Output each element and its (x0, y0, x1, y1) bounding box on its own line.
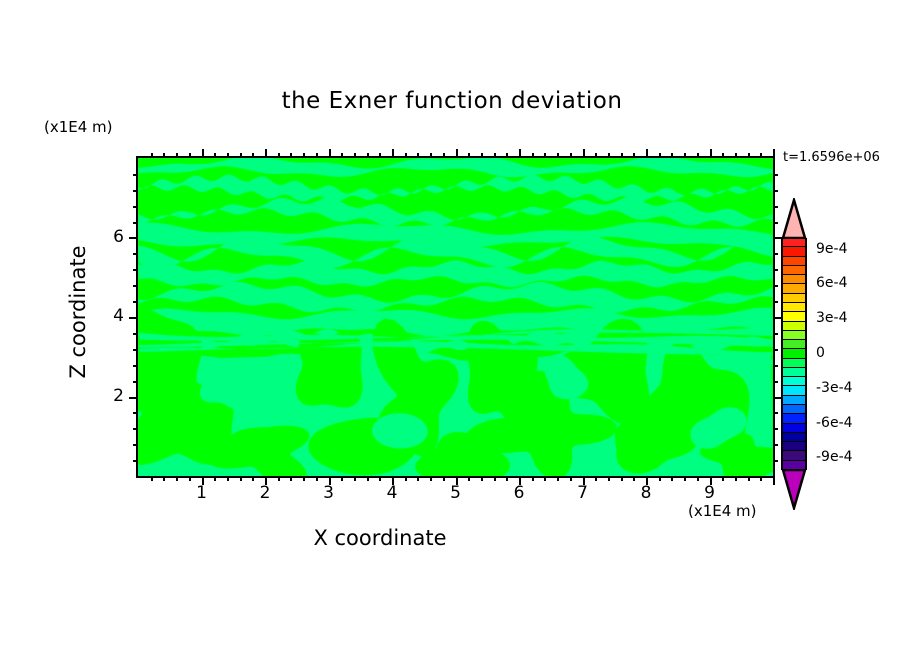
colorbar-segment (781, 386, 807, 395)
axis-tick-y (773, 444, 778, 446)
axis-tick-y (773, 428, 778, 430)
x-tick-label: 5 (436, 483, 476, 503)
axis-tick-x (367, 476, 369, 481)
axis-tick-x (341, 476, 343, 481)
axis-tick-x (633, 476, 635, 481)
axis-tick-x (506, 476, 508, 481)
axis-tick-x (163, 153, 165, 158)
x-tick-label: 9 (690, 483, 730, 503)
colorbar-segment (781, 349, 807, 358)
colorbar-segment (781, 368, 807, 377)
colorbar-segment (781, 442, 807, 451)
axis-tick-y (133, 253, 138, 255)
axis-tick-x (240, 476, 242, 481)
axis-tick-x (570, 476, 572, 481)
y-axis-units-label: (x1E4 m) (44, 118, 113, 136)
axis-tick-x (621, 476, 623, 481)
axis-tick-x (773, 476, 775, 485)
axis-tick-y (133, 301, 138, 303)
y-tick-label: 6 (88, 227, 124, 247)
colorbar-segment (781, 322, 807, 331)
axis-tick-x (278, 153, 280, 158)
axis-tick-y (133, 460, 138, 462)
axis-tick-x (151, 476, 153, 481)
colorbar-over-arrow (781, 198, 807, 238)
x-tick-label: 3 (309, 483, 349, 503)
colorbar-tick-label: -3e-4 (816, 380, 853, 396)
axis-tick-x (646, 149, 648, 158)
x-axis-units-label: (x1E4 m) (688, 502, 757, 520)
axis-tick-x (214, 476, 216, 481)
axis-tick-y (773, 253, 778, 255)
axis-tick-x (481, 476, 483, 481)
colorbar-segment (781, 340, 807, 349)
axis-tick-x (684, 153, 686, 158)
axis-tick-x (722, 153, 724, 158)
colorbar-segment (781, 257, 807, 266)
axis-tick-x (227, 476, 229, 481)
axis-tick-x (252, 476, 254, 481)
colorbar-segment (781, 303, 807, 312)
colorbar-tick-label: 3e-4 (816, 310, 847, 326)
axis-tick-x (405, 476, 407, 481)
axis-tick-x (430, 476, 432, 481)
axis-tick-x (316, 153, 318, 158)
colorbar-segment (781, 266, 807, 275)
axis-tick-x (354, 476, 356, 481)
axis-tick-y (133, 190, 138, 192)
colorbar-tick-label: 0 (816, 345, 825, 361)
axis-tick-x (265, 149, 267, 158)
axis-tick-x (417, 153, 419, 158)
axis-tick-y (773, 333, 778, 335)
axis-tick-x (570, 153, 572, 158)
axis-tick-x (290, 476, 292, 481)
axis-tick-x (443, 476, 445, 481)
axis-tick-y (773, 285, 778, 287)
axis-tick-y (133, 428, 138, 430)
axis-tick-y (129, 317, 138, 319)
colorbar-segment (781, 414, 807, 423)
axis-tick-y (773, 269, 778, 271)
axis-tick-x (494, 476, 496, 481)
contour-field (138, 158, 773, 476)
axis-tick-y (773, 349, 778, 351)
axis-tick-x (151, 153, 153, 158)
axis-tick-x (379, 153, 381, 158)
axis-tick-y (773, 381, 778, 383)
colorbar-segment (781, 275, 807, 284)
axis-tick-y (133, 206, 138, 208)
axis-tick-x (468, 153, 470, 158)
x-tick-label: 8 (626, 483, 666, 503)
colorbar-segment (781, 238, 807, 247)
axis-tick-x (760, 153, 762, 158)
axis-tick-x (278, 476, 280, 481)
axis-tick-x (671, 153, 673, 158)
axis-tick-x (189, 476, 191, 481)
axis-tick-x (671, 476, 673, 481)
axis-tick-y (133, 381, 138, 383)
page-title: the Exner function deviation (0, 88, 904, 114)
colorbar-tick-label: -9e-4 (816, 449, 853, 465)
y-tick-label: 4 (88, 306, 124, 326)
axis-tick-x (481, 153, 483, 158)
axis-tick-y (773, 460, 778, 462)
axis-tick-x (506, 153, 508, 158)
axis-tick-x (392, 149, 394, 158)
colorbar-segment (781, 294, 807, 303)
axis-tick-y (133, 333, 138, 335)
axis-tick-x (176, 153, 178, 158)
axis-tick-x (252, 153, 254, 158)
axis-tick-x (405, 153, 407, 158)
colorbar-segment (781, 433, 807, 442)
axis-tick-x (748, 476, 750, 481)
axis-tick-x (443, 153, 445, 158)
axis-tick-y (133, 365, 138, 367)
axis-tick-y (133, 174, 138, 176)
colorbar-tick-label: -6e-4 (816, 415, 853, 431)
axis-tick-x (557, 476, 559, 481)
axis-tick-x (595, 476, 597, 481)
axis-tick-x (659, 476, 661, 481)
x-tick-label: 4 (372, 483, 412, 503)
axis-tick-x (494, 153, 496, 158)
axis-tick-y (129, 237, 138, 239)
colorbar-segment (781, 312, 807, 321)
axis-tick-x (468, 476, 470, 481)
axis-tick-x (329, 149, 331, 158)
axis-tick-x (430, 153, 432, 158)
y-tick-label: 2 (88, 386, 124, 406)
axis-tick-x (697, 476, 699, 481)
x-tick-label: 7 (563, 483, 603, 503)
colorbar-segment (781, 451, 807, 460)
axis-tick-x (303, 476, 305, 481)
axis-tick-x (367, 153, 369, 158)
colorbar-tick-label: 6e-4 (816, 275, 847, 291)
axis-tick-y (773, 412, 778, 414)
axis-tick-x (163, 476, 165, 481)
colorbar-segment (781, 405, 807, 414)
axis-tick-x (735, 153, 737, 158)
axis-tick-x (697, 153, 699, 158)
x-tick-label: 6 (499, 483, 539, 503)
axis-tick-x (722, 476, 724, 481)
axis-tick-x (214, 153, 216, 158)
time-annotation: t=1.6596e+06 (783, 150, 880, 165)
axis-tick-y (133, 349, 138, 351)
axis-tick-x (595, 153, 597, 158)
axis-tick-y (133, 285, 138, 287)
x-axis-title: X coordinate (0, 526, 760, 550)
axis-tick-x (748, 153, 750, 158)
axis-tick-y (129, 397, 138, 399)
colorbar (781, 238, 807, 470)
colorbar-segment (781, 284, 807, 293)
axis-tick-x (557, 153, 559, 158)
axis-tick-x (544, 476, 546, 481)
axis-tick-y (773, 365, 778, 367)
axis-tick-x (189, 153, 191, 158)
axis-tick-x (735, 476, 737, 481)
axis-tick-x (240, 153, 242, 158)
axis-tick-y (133, 269, 138, 271)
axis-tick-x (227, 153, 229, 158)
axis-tick-y (773, 301, 778, 303)
colorbar-segment (781, 424, 807, 433)
axis-tick-x (621, 153, 623, 158)
colorbar-segment (781, 331, 807, 340)
axis-tick-y (773, 174, 778, 176)
axis-tick-x (354, 153, 356, 158)
colorbar-segment (781, 359, 807, 368)
colorbar-segment (781, 247, 807, 256)
axis-tick-x (773, 149, 775, 158)
axis-tick-x (532, 476, 534, 481)
axis-tick-x (379, 476, 381, 481)
axis-tick-x (341, 153, 343, 158)
axis-tick-x (659, 153, 661, 158)
contour-plot-area (136, 156, 775, 478)
axis-tick-y (133, 412, 138, 414)
axis-tick-x (456, 149, 458, 158)
axis-tick-x (684, 476, 686, 481)
axis-tick-x (290, 153, 292, 158)
axis-tick-x (176, 476, 178, 481)
colorbar-tick-label: 9e-4 (816, 241, 847, 257)
axis-tick-x (519, 149, 521, 158)
axis-tick-x (532, 153, 534, 158)
axis-tick-x (544, 153, 546, 158)
axis-tick-y (133, 222, 138, 224)
axis-tick-y (773, 190, 778, 192)
axis-tick-x (608, 153, 610, 158)
axis-tick-x (583, 149, 585, 158)
axis-tick-y (133, 444, 138, 446)
axis-tick-x (633, 153, 635, 158)
colorbar-segment (781, 461, 807, 470)
colorbar-segment (781, 377, 807, 386)
colorbar-under-arrow (781, 470, 807, 510)
axis-tick-x (608, 476, 610, 481)
axis-tick-y (773, 206, 778, 208)
axis-tick-x (417, 476, 419, 481)
axis-tick-x (760, 476, 762, 481)
axis-tick-x (316, 476, 318, 481)
axis-tick-x (710, 149, 712, 158)
axis-tick-x (303, 153, 305, 158)
x-tick-label: 2 (245, 483, 285, 503)
colorbar-segment (781, 396, 807, 405)
y-axis-title: Z coordinate (66, 212, 90, 412)
x-tick-label: 1 (182, 483, 222, 503)
axis-tick-x (202, 149, 204, 158)
axis-tick-y (773, 222, 778, 224)
